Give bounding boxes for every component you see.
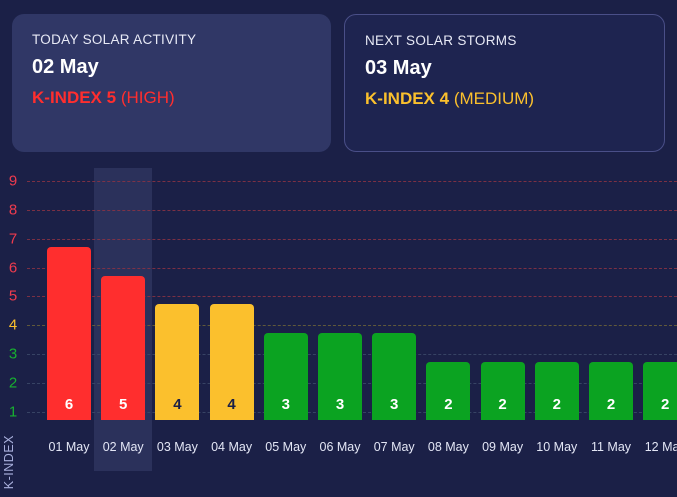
- x-tick-label: 09 May: [472, 440, 534, 454]
- x-tick-label: 06 May: [309, 440, 371, 454]
- y-tick-label: 4: [3, 317, 23, 334]
- card-date: 03 May: [365, 57, 644, 80]
- bar-slot[interactable]: 5: [101, 276, 145, 421]
- bar-slot[interactable]: 2: [535, 362, 579, 420]
- card-kindex-level: (HIGH): [121, 88, 175, 107]
- bar-slot[interactable]: 3: [318, 333, 362, 420]
- bar-value-label: 4: [173, 397, 181, 420]
- kindex-bar-chart: 987654321 654433322222 01 May02 May03 Ma…: [0, 152, 677, 497]
- x-tick-label: 02 May: [92, 440, 154, 454]
- y-tick-label: 7: [3, 230, 23, 247]
- bar[interactable]: 4: [155, 304, 199, 420]
- bar-value-label: 2: [444, 397, 452, 420]
- bar-slot[interactable]: 4: [210, 304, 254, 420]
- y-tick-label: 6: [3, 259, 23, 276]
- bar-slot[interactable]: 2: [589, 362, 633, 420]
- bar[interactable]: 2: [426, 362, 470, 420]
- y-tick-label: 2: [3, 375, 23, 392]
- x-tick-label: 05 May: [255, 440, 317, 454]
- card-title: TODAY SOLAR ACTIVITY: [32, 32, 311, 47]
- card-title: NEXT SOLAR STORMS: [365, 33, 644, 48]
- y-tick-label: 9: [3, 172, 23, 189]
- bar-value-label: 5: [119, 397, 127, 420]
- bar[interactable]: 2: [481, 362, 525, 420]
- bar-value-label: 3: [336, 397, 344, 420]
- bar[interactable]: 5: [101, 276, 145, 421]
- bar[interactable]: 2: [643, 362, 677, 420]
- y-tick-label: 1: [3, 404, 23, 421]
- y-axis-title: K-INDEX: [2, 435, 16, 489]
- bar-value-label: 6: [65, 397, 73, 420]
- bar-slot[interactable]: 6: [47, 247, 91, 420]
- y-tick-label: 5: [3, 288, 23, 305]
- bar-slot[interactable]: 2: [643, 362, 677, 420]
- bar[interactable]: 3: [372, 333, 416, 420]
- card-kindex-level: (MEDIUM): [454, 89, 534, 108]
- bar-value-label: 2: [553, 397, 561, 420]
- y-tick-label: 8: [3, 201, 23, 218]
- bar-value-label: 4: [227, 397, 235, 420]
- x-tick-label: 04 May: [201, 440, 263, 454]
- card-today-solar-activity[interactable]: TODAY SOLAR ACTIVITY 02 May K-INDEX 5 (H…: [12, 14, 331, 152]
- x-tick-label: 03 May: [146, 440, 208, 454]
- x-tick-label: 08 May: [417, 440, 479, 454]
- card-kindex: K-INDEX 4 (MEDIUM): [365, 89, 644, 109]
- bar[interactable]: 6: [47, 247, 91, 420]
- bar[interactable]: 3: [264, 333, 308, 420]
- bar[interactable]: 2: [535, 362, 579, 420]
- x-tick-label: 07 May: [363, 440, 425, 454]
- bar-slot[interactable]: 2: [481, 362, 525, 420]
- bar-slot[interactable]: 4: [155, 304, 199, 420]
- bar-value-label: 2: [661, 397, 669, 420]
- x-tick-label: 12 May: [634, 440, 677, 454]
- bar-value-label: 3: [390, 397, 398, 420]
- card-kindex-value: K-INDEX 5: [32, 88, 116, 107]
- bar-slot[interactable]: 3: [264, 333, 308, 420]
- card-kindex: K-INDEX 5 (HIGH): [32, 88, 311, 108]
- y-tick-label: 3: [3, 346, 23, 363]
- bar-value-label: 2: [607, 397, 615, 420]
- card-kindex-value: K-INDEX 4: [365, 89, 449, 108]
- bar-value-label: 3: [282, 397, 290, 420]
- summary-cards: TODAY SOLAR ACTIVITY 02 May K-INDEX 5 (H…: [0, 0, 677, 152]
- x-tick-label: 10 May: [526, 440, 588, 454]
- x-tick-label: 01 May: [38, 440, 100, 454]
- card-next-solar-storms[interactable]: NEXT SOLAR STORMS 03 May K-INDEX 4 (MEDI…: [344, 14, 665, 152]
- card-date: 02 May: [32, 56, 311, 79]
- bar-value-label: 2: [498, 397, 506, 420]
- bar-slot[interactable]: 2: [426, 362, 470, 420]
- bar-slot[interactable]: 3: [372, 333, 416, 420]
- x-tick-label: 11 May: [580, 440, 642, 454]
- bar[interactable]: 3: [318, 333, 362, 420]
- bar[interactable]: 4: [210, 304, 254, 420]
- bar[interactable]: 2: [589, 362, 633, 420]
